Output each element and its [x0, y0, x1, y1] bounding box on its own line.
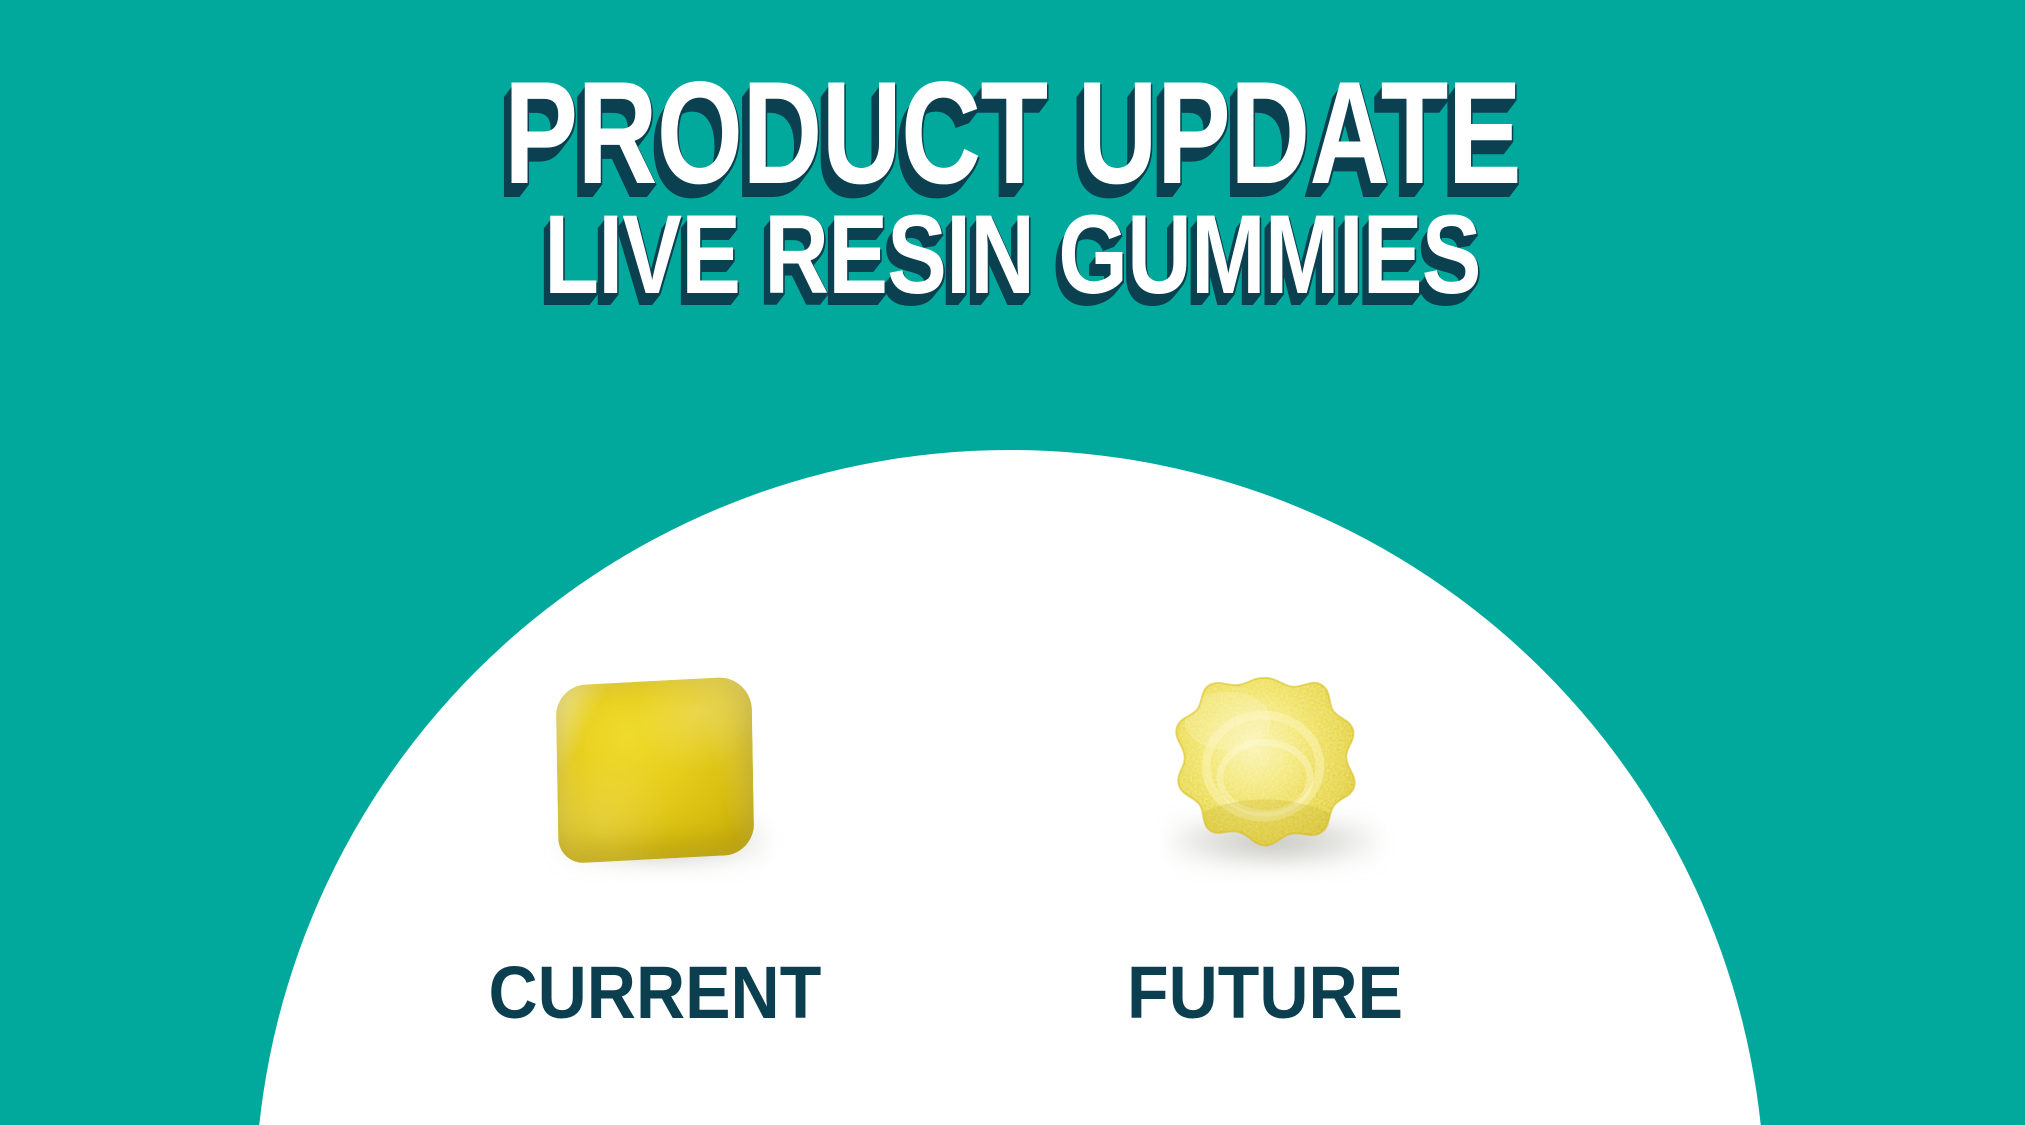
promo-graphic: PRODUCT UPDATE LIVE RESIN GUMMIES CURREN… — [0, 0, 2025, 1125]
product-future: FUTURE — [1050, 620, 1480, 1032]
scalloped-gummy-svg — [1165, 672, 1365, 868]
product-future-media — [1115, 620, 1415, 920]
page-subtitle: LIVE RESIN GUMMIES — [203, 197, 1823, 313]
page-title: PRODUCT UPDATE — [243, 58, 1782, 208]
product-comparison: CURRENT — [440, 620, 1480, 1032]
square-gummy-icon — [556, 676, 755, 864]
gummy-body — [1157, 672, 1373, 937]
product-current-media — [505, 620, 805, 920]
scalloped-sugar-gummy-icon — [1165, 672, 1365, 868]
product-current: CURRENT — [440, 620, 870, 1032]
product-current-label: CURRENT — [489, 954, 822, 1032]
product-future-label: FUTURE — [1127, 954, 1403, 1032]
